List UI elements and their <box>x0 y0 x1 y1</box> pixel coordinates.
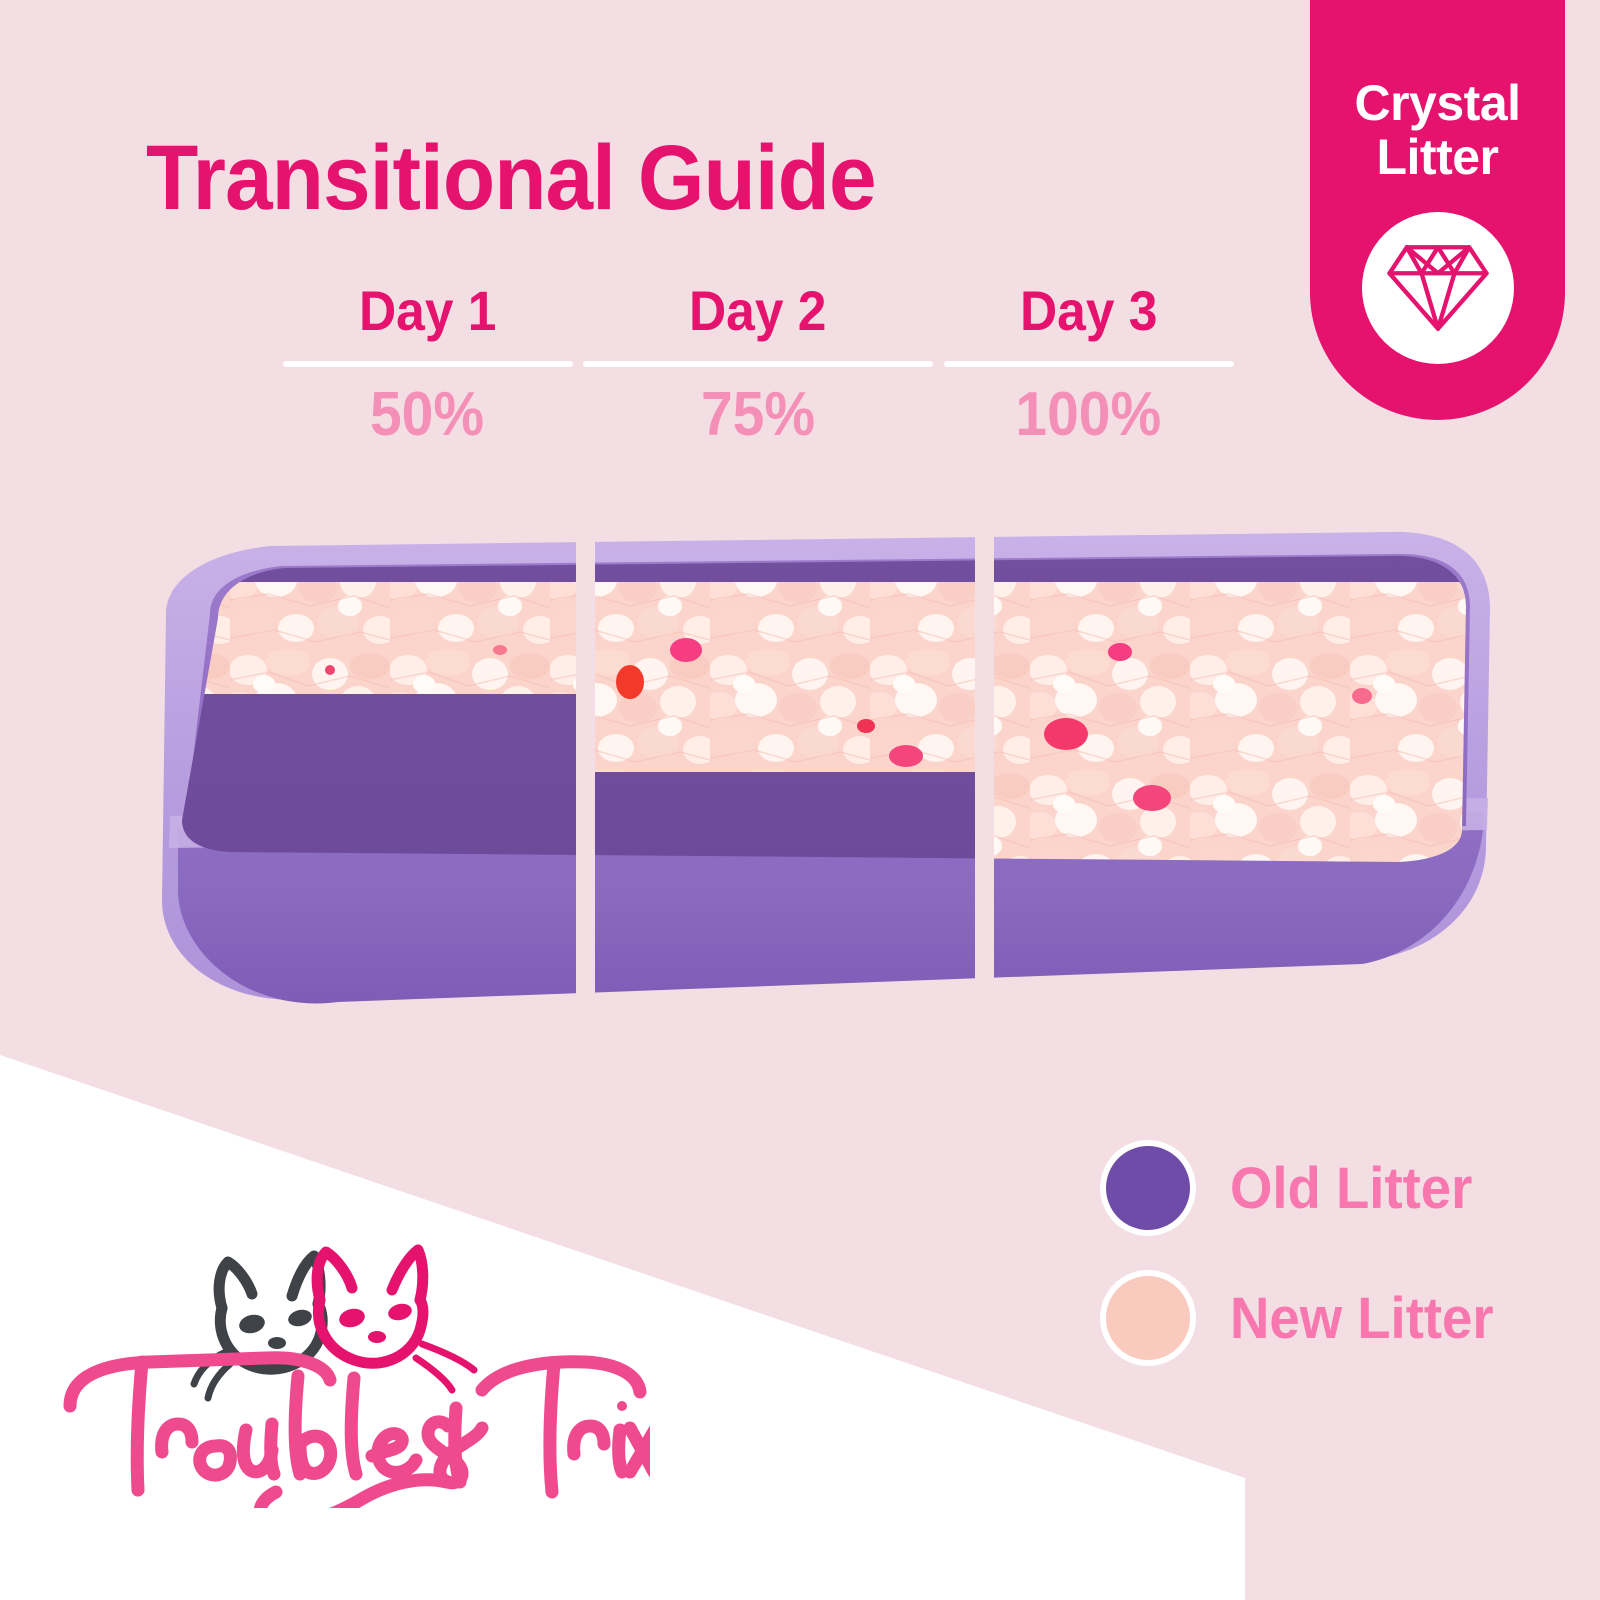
crystal-litter-badge: Crystal Litter <box>1310 0 1565 420</box>
cat-pink-whiskers <box>416 1344 474 1390</box>
schedule-columns: Day 1 50% Day 2 75% Day 3 100% <box>272 282 1244 482</box>
schedule-column-day-1: Day 1 50% <box>272 282 583 482</box>
legend-label: New Litter <box>1230 1285 1494 1352</box>
page-title: Transitional Guide <box>146 126 876 231</box>
panel-day-2-litter <box>594 582 984 772</box>
tray-graphic <box>70 530 1530 1030</box>
cat-pink-features <box>337 1301 413 1343</box>
panel-day-3-litter <box>988 582 1530 872</box>
old-litter-swatch <box>1100 1140 1196 1236</box>
day-label: Day 2 <box>689 282 826 341</box>
cat-dark-features <box>237 1307 313 1349</box>
trouble-and-trix-logo <box>30 1238 650 1508</box>
day-divider-rule <box>583 361 933 367</box>
legend-label: Old Litter <box>1230 1155 1472 1222</box>
legend: Old Litter New Litter <box>1100 1140 1510 1400</box>
panel-day-1-litter <box>70 582 590 694</box>
day-percent: 50% <box>370 379 484 450</box>
badge-icon-circle <box>1362 212 1514 364</box>
litter-tray-illustration <box>70 530 1530 1030</box>
new-litter-swatch <box>1100 1270 1196 1366</box>
panel-divider-1 <box>576 500 595 1060</box>
day-label: Day 1 <box>359 282 496 341</box>
schedule-column-day-3: Day 3 100% <box>933 282 1244 482</box>
poster-canvas: Transitional Guide Day 1 50% Day 2 75% D… <box>0 0 1600 1600</box>
day-divider-rule <box>283 361 573 367</box>
badge-line-1: Crystal <box>1354 76 1520 130</box>
legend-item-old-litter: Old Litter <box>1100 1140 1510 1236</box>
day-percent: 100% <box>1016 379 1162 450</box>
schedule-column-day-2: Day 2 75% <box>583 282 933 482</box>
day-divider-rule <box>944 361 1234 367</box>
panel-divider-2 <box>975 500 994 1060</box>
legend-item-new-litter: New Litter <box>1100 1270 1510 1366</box>
day-label: Day 3 <box>1020 282 1157 341</box>
badge-line-2: Litter <box>1377 130 1499 184</box>
logo-wordmark <box>70 1358 650 1508</box>
day-percent: 75% <box>701 379 815 450</box>
brand-logo <box>30 1238 650 1508</box>
diamond-icon <box>1386 242 1490 334</box>
